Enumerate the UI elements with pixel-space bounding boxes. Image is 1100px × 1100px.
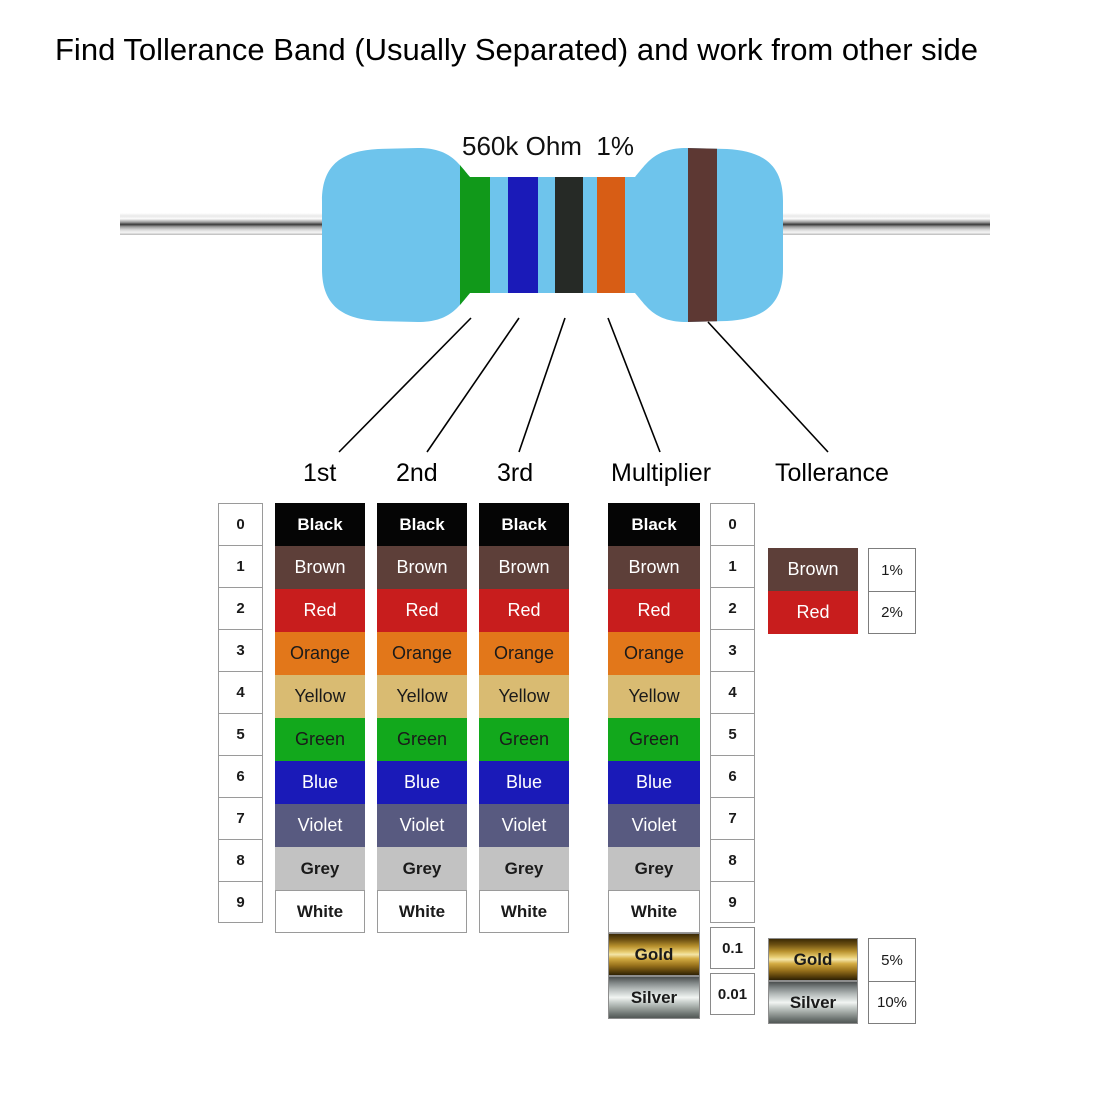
digit-cell[interactable]: 1 <box>710 545 755 587</box>
band-2-blue <box>508 145 538 325</box>
color-cell-label: White <box>501 902 547 922</box>
color-cell-label: Red <box>405 600 438 621</box>
color-cell-violet[interactable]: Violet <box>275 804 365 847</box>
color-cell-label: Blue <box>302 772 338 793</box>
tolerance-percent-cell[interactable]: 2% <box>868 591 916 634</box>
digit-cell-label: 9 <box>728 894 736 911</box>
color-cell-label: Silver <box>631 988 677 1008</box>
color-cell-label: Brown <box>498 557 549 578</box>
tolerance-percent-cell[interactable]: 1% <box>868 548 916 591</box>
color-cell-label: Orange <box>494 643 554 664</box>
color-cell-violet[interactable]: Violet <box>377 804 467 847</box>
color-cell-blue[interactable]: Blue <box>479 761 569 804</box>
color-cell-label: Green <box>499 729 549 750</box>
color-cell-white[interactable]: White <box>275 890 365 933</box>
color-cell-green[interactable]: Green <box>479 718 569 761</box>
color-cell-label: Yellow <box>628 686 679 707</box>
color-cell-yellow[interactable]: Yellow <box>377 675 467 718</box>
color-cell-black[interactable]: Black <box>479 503 569 546</box>
color-cell-label: Blue <box>636 772 672 793</box>
color-column-3rd: BlackBrownRedOrangeYellowGreenBlueViolet… <box>479 503 569 933</box>
color-cell-violet[interactable]: Violet <box>608 804 700 847</box>
color-cell-black[interactable]: Black <box>275 503 365 546</box>
resistor-color-code-page: Find Tollerance Band (Usually Separated)… <box>0 0 1100 1100</box>
resistor-lead-right <box>775 213 990 235</box>
digit-cell-label: 0 <box>236 516 244 533</box>
tolerance-metal-column: GoldSilver <box>768 938 858 1024</box>
color-column-1st: BlackBrownRedOrangeYellowGreenBlueViolet… <box>275 503 365 933</box>
color-cell-label: Green <box>629 729 679 750</box>
color-cell-blue[interactable]: Blue <box>608 761 700 804</box>
color-cell-label: Violet <box>502 815 547 836</box>
color-cell-yellow[interactable]: Yellow <box>275 675 365 718</box>
leader-line-tollerance <box>708 322 828 452</box>
digit-cell-label: 8 <box>728 852 736 869</box>
page-title: Find Tollerance Band (Usually Separated)… <box>55 32 978 68</box>
digit-cell[interactable]: 7 <box>710 797 755 839</box>
color-cell-label: Violet <box>298 815 343 836</box>
color-cell-black[interactable]: Black <box>608 503 700 546</box>
color-cell-label: Red <box>637 600 670 621</box>
color-cell-label: Blue <box>506 772 542 793</box>
tolerance-metal-percent-column: 5%10% <box>868 938 916 1024</box>
tolerance-percent-column: 1%2% <box>868 548 916 634</box>
digit-cell[interactable]: 8 <box>218 839 263 881</box>
color-cell-label: Grey <box>301 859 340 879</box>
digit-cell-label: 3 <box>236 642 244 659</box>
digit-cell[interactable]: 5 <box>710 713 755 755</box>
color-cell-blue[interactable]: Blue <box>377 761 467 804</box>
color-cell-label: Green <box>295 729 345 750</box>
digit-cell[interactable]: 9 <box>218 881 263 923</box>
caption-3rd: 3rd <box>497 459 533 488</box>
color-cell-brown[interactable]: Brown <box>479 546 569 589</box>
digit-cell-label: 8 <box>236 852 244 869</box>
color-cell-label: Yellow <box>396 686 447 707</box>
color-cell-red[interactable]: Red <box>608 589 700 632</box>
color-cell-label: Grey <box>635 859 674 879</box>
color-cell-red[interactable]: Red <box>479 589 569 632</box>
color-cell-grey[interactable]: Grey <box>608 847 700 890</box>
digit-cell[interactable]: 0 <box>218 503 263 545</box>
color-cell-yellow[interactable]: Yellow <box>479 675 569 718</box>
digit-cell-label: 2 <box>728 600 736 617</box>
color-cell-label: Orange <box>624 643 684 664</box>
resistor-body-shape <box>300 145 805 325</box>
color-cell-label: Red <box>796 602 829 623</box>
color-cell-label: White <box>297 902 343 922</box>
color-cell-white[interactable]: White <box>479 890 569 933</box>
color-cell-label: Silver <box>790 993 836 1013</box>
color-cell-silver[interactable]: Silver <box>608 976 700 1019</box>
leader-line-3rd <box>519 318 565 452</box>
caption-tollerance: Tollerance <box>775 459 889 488</box>
digit-cell-label: 5 <box>236 726 244 743</box>
color-cell-brown[interactable]: Brown <box>768 548 858 591</box>
color-cell-label: Blue <box>404 772 440 793</box>
digit-cell[interactable]: 4 <box>710 671 755 713</box>
digit-cell[interactable]: 3 <box>218 629 263 671</box>
band-1-green <box>460 145 490 325</box>
digit-cell-label: 1 <box>236 558 244 575</box>
color-cell-label: Orange <box>290 643 350 664</box>
digit-cell[interactable]: 1 <box>218 545 263 587</box>
leader-line-2nd <box>427 318 519 452</box>
digit-cell[interactable]: 5 <box>218 713 263 755</box>
color-cell-label: White <box>399 902 445 922</box>
color-cell-label: Gold <box>635 945 674 965</box>
resistor-lead-left <box>120 213 330 235</box>
color-cell-orange[interactable]: Orange <box>275 632 365 675</box>
digit-cell-label: 7 <box>728 810 736 827</box>
color-cell-label: Red <box>303 600 336 621</box>
tolerance-percent-cell[interactable]: 10% <box>868 981 916 1024</box>
multiplier-column: BlackBrownRedOrangeYellowGreenBlueViolet… <box>608 503 700 1019</box>
color-cell-green[interactable]: Green <box>377 718 467 761</box>
color-cell-white[interactable]: White <box>377 890 467 933</box>
color-cell-label: Gold <box>794 950 833 970</box>
digit-cell[interactable]: 6 <box>710 755 755 797</box>
color-cell-violet[interactable]: Violet <box>479 804 569 847</box>
digit-cell[interactable]: 0.1 <box>710 927 755 969</box>
color-column-2nd: BlackBrownRedOrangeYellowGreenBlueViolet… <box>377 503 467 933</box>
resistor-body <box>300 145 805 325</box>
color-cell-brown[interactable]: Brown <box>275 546 365 589</box>
color-cell-grey[interactable]: Grey <box>377 847 467 890</box>
digit-cell-label: 4 <box>236 684 244 701</box>
color-cell-label: Grey <box>505 859 544 879</box>
color-cell-label: Orange <box>392 643 452 664</box>
digit-cell[interactable]: 7 <box>218 797 263 839</box>
color-cell-label: White <box>631 902 677 922</box>
color-cell-label: Green <box>397 729 447 750</box>
multiplier-values-column: 01234567890.10.01 <box>710 503 755 1015</box>
digit-cell-label: 0 <box>728 516 736 533</box>
color-cell-silver[interactable]: Silver <box>768 981 858 1024</box>
digit-cell[interactable]: 8 <box>710 839 755 881</box>
color-cell-label: Black <box>501 515 546 535</box>
tolerance-percent-label: 10% <box>877 994 907 1011</box>
digit-cell[interactable]: 2 <box>218 587 263 629</box>
digit-cell[interactable]: 3 <box>710 629 755 671</box>
color-cell-label: Brown <box>294 557 345 578</box>
tolerance-percent-label: 5% <box>881 952 903 969</box>
color-cell-red[interactable]: Red <box>275 589 365 632</box>
caption-multiplier: Multiplier <box>611 459 711 488</box>
color-cell-red[interactable]: Red <box>377 589 467 632</box>
digit-cell[interactable]: 6 <box>218 755 263 797</box>
tolerance-percent-label: 2% <box>881 604 903 621</box>
color-cell-gold[interactable]: Gold <box>768 938 858 981</box>
caption-1st: 1st <box>303 459 336 488</box>
digit-cell-label: 0.1 <box>722 940 743 957</box>
digit-column: 0123456789 <box>218 503 263 923</box>
band-5-brown <box>688 145 717 325</box>
color-cell-orange[interactable]: Orange <box>608 632 700 675</box>
color-cell-green[interactable]: Green <box>275 718 365 761</box>
color-cell-green[interactable]: Green <box>608 718 700 761</box>
color-cell-label: Brown <box>396 557 447 578</box>
color-cell-black[interactable]: Black <box>377 503 467 546</box>
digit-cell-label: 5 <box>728 726 736 743</box>
digit-cell[interactable]: 4 <box>218 671 263 713</box>
color-cell-white[interactable]: White <box>608 890 700 933</box>
color-cell-grey[interactable]: Grey <box>479 847 569 890</box>
color-cell-brown[interactable]: Brown <box>608 546 700 589</box>
digit-cell[interactable]: 2 <box>710 587 755 629</box>
color-cell-blue[interactable]: Blue <box>275 761 365 804</box>
color-cell-yellow[interactable]: Yellow <box>608 675 700 718</box>
digit-cell-label: 0.01 <box>718 986 747 1003</box>
color-cell-brown[interactable]: Brown <box>377 546 467 589</box>
color-cell-label: Yellow <box>498 686 549 707</box>
tolerance-percent-cell[interactable]: 5% <box>868 938 916 981</box>
color-cell-label: Violet <box>632 815 677 836</box>
digit-cell-label: 7 <box>236 810 244 827</box>
digit-cell-label: 4 <box>728 684 736 701</box>
color-cell-label: Brown <box>628 557 679 578</box>
color-cell-label: Grey <box>403 859 442 879</box>
color-cell-label: Violet <box>400 815 445 836</box>
caption-2nd: 2nd <box>396 459 438 488</box>
band-4-orange <box>597 145 625 325</box>
color-cell-label: Black <box>297 515 342 535</box>
color-cell-grey[interactable]: Grey <box>275 847 365 890</box>
digit-cell-label: 1 <box>728 558 736 575</box>
leader-line-multiplier <box>608 318 660 452</box>
color-cell-red[interactable]: Red <box>768 591 858 634</box>
digit-cell-label: 3 <box>728 642 736 659</box>
digit-cell-label: 9 <box>236 894 244 911</box>
digit-cell-label: 2 <box>236 600 244 617</box>
band-3-black <box>555 145 583 325</box>
color-cell-gold[interactable]: Gold <box>608 933 700 976</box>
digit-cell[interactable]: 0.01 <box>710 973 755 1015</box>
color-cell-label: Black <box>631 515 676 535</box>
color-cell-orange[interactable]: Orange <box>479 632 569 675</box>
tolerance-column: BrownRed <box>768 548 858 634</box>
color-cell-label: Yellow <box>294 686 345 707</box>
leader-line-1st <box>339 318 471 452</box>
digit-cell-label: 6 <box>728 768 736 785</box>
color-cell-orange[interactable]: Orange <box>377 632 467 675</box>
digit-cell[interactable]: 0 <box>710 503 755 545</box>
digit-cell-label: 6 <box>236 768 244 785</box>
digit-cell[interactable]: 9 <box>710 881 755 923</box>
color-cell-label: Red <box>507 600 540 621</box>
color-cell-label: Brown <box>787 559 838 580</box>
color-cell-label: Black <box>399 515 444 535</box>
tolerance-percent-label: 1% <box>881 562 903 579</box>
